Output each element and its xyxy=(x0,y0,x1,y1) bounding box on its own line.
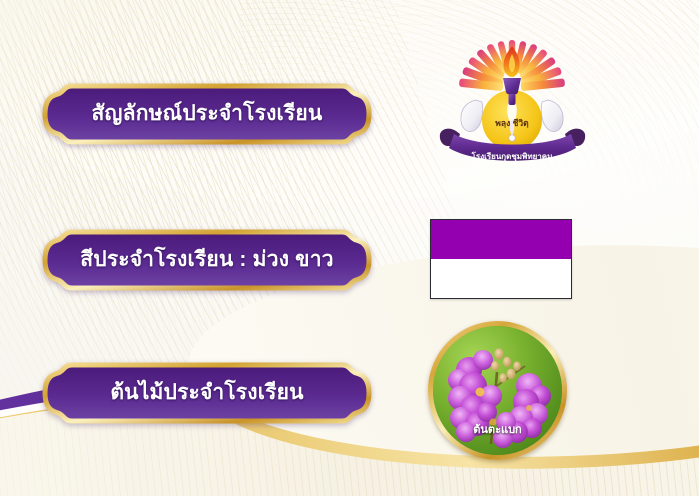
banner-school-tree[interactable]: ต้นไม้ประจำโรงเรียน xyxy=(42,362,372,424)
school-color-flag xyxy=(430,219,572,299)
banner-school-symbol[interactable]: สัญลักษณ์ประจำโรงเรียน xyxy=(42,83,372,145)
slide-root: สัญลักษณ์ประจำโรงเรียน สีประจำโรงเรียน :… xyxy=(0,0,699,496)
banner-label: สัญลักษณ์ประจำโรงเรียน xyxy=(92,97,323,132)
banner-label: สีประจำโรงเรียน : ม่วง ขาว xyxy=(80,243,333,278)
flag-stripe-purple xyxy=(431,220,571,259)
flag-stripe-white xyxy=(431,259,571,298)
tree-photo-disc: ต้นตะแบก xyxy=(433,326,562,455)
banner-column: สัญลักษณ์ประจำโรงเรียน สีประจำโรงเรียน :… xyxy=(0,0,410,496)
banner-label: ต้นไม้ประจำโรงเรียน xyxy=(110,376,303,411)
tree-photo-caption: ต้นตะแบก xyxy=(433,420,562,438)
school-tree-photo: ต้นตะแบก xyxy=(428,321,567,460)
emblem-motto: พลฺง ชีวิตฺ xyxy=(495,118,529,128)
school-emblem: พลฺง ชีวิตฺ โรงเรียนกุดชุมพิทยาคม xyxy=(430,22,595,177)
banner-school-colors[interactable]: สีประจำโรงเรียน : ม่วง ขาว xyxy=(42,229,372,291)
emblem-ribbon-text: โรงเรียนกุดชุมพิทยาคม xyxy=(471,151,553,162)
